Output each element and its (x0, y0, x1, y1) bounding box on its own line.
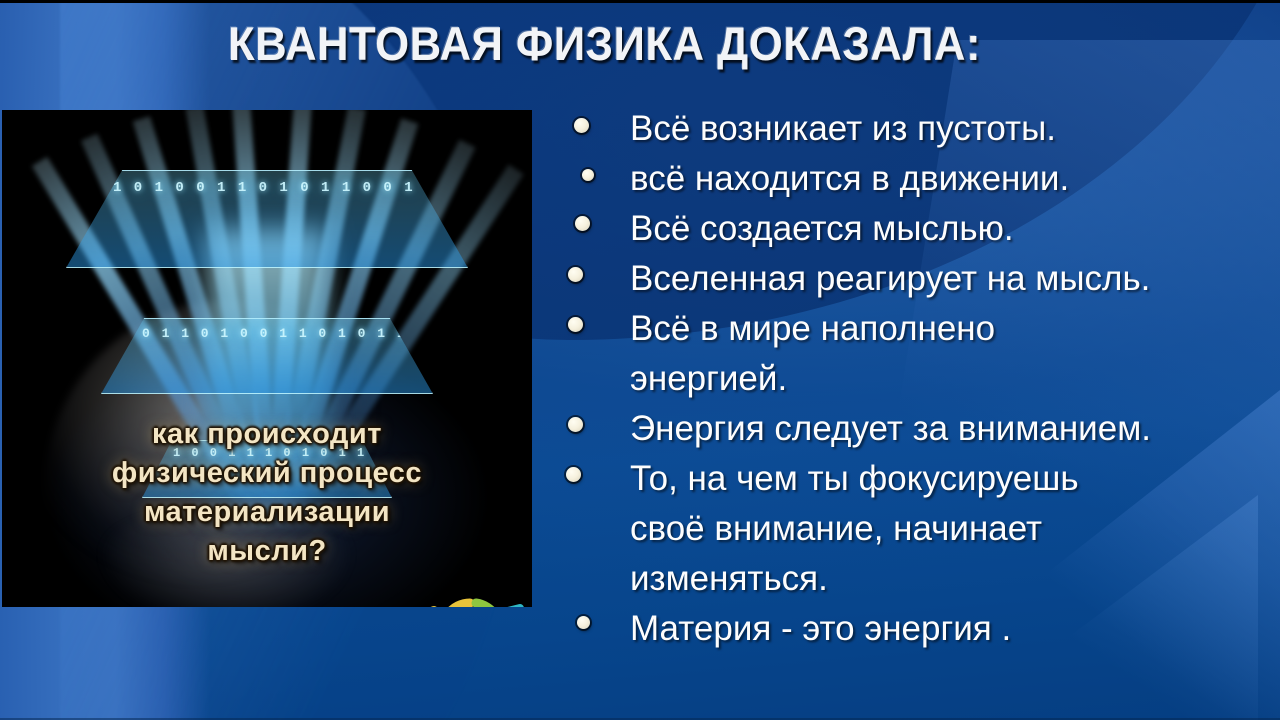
list-item: Материя - это энергия . (560, 604, 1276, 654)
list-item: Всё создается мыслью. (560, 204, 1276, 254)
list-item: Энергия следует за вниманием. (560, 404, 1276, 454)
rainbow-circle-logo-icon (420, 588, 526, 607)
list-item-text: Энергия следует за вниманием. (630, 404, 1276, 454)
binary-plane-top-bits: 1 0 1 0 0 1 1 0 1 0 1 1 0 0 1 (67, 171, 467, 267)
list-item-text: То, на чем ты фокусируешь своё внимание,… (630, 454, 1276, 604)
list-item: Всё возникает из пустоты. (560, 104, 1276, 154)
caption-line-4: мысли? (2, 532, 532, 571)
list-item-text: Всё создается мыслью. (630, 204, 1276, 254)
list-item: Всё в мире наполнено энергией. (560, 304, 1276, 404)
list-item-text: Вселенная реагирует на мысль. (630, 254, 1276, 304)
bullet-marker-icon (568, 317, 583, 332)
illustration-caption: как происходит физический процесс матери… (2, 415, 532, 570)
slide-root: КВАНТОВАЯ ФИЗИКА ДОКАЗАЛА: 1 0 1 0 0 1 1… (0, 0, 1280, 720)
binary-plane-middle-bits: 0 1 1 0 1 0 0 1 1 0 1 0 1 1 0 (102, 319, 432, 393)
bullet-marker-icon (574, 118, 589, 133)
binary-plane-middle: 0 1 1 0 1 0 0 1 1 0 1 0 1 1 0 (101, 318, 433, 394)
illustration-panel: 1 0 1 0 0 1 1 0 1 0 1 1 0 0 1 0 1 1 0 1 … (2, 110, 532, 607)
bullet-marker-icon (568, 417, 583, 432)
page-title: КВАНТОВАЯ ФИЗИКА ДОКАЗАЛА: (228, 14, 1065, 74)
bullet-marker-icon (577, 616, 590, 629)
bullet-marker-icon (575, 216, 590, 231)
caption-line-3: материализации (2, 493, 532, 532)
top-edge-bar (0, 0, 1280, 3)
list-item-text: Всё в мире наполнено энергией. (630, 304, 1276, 404)
list-item: Вселенная реагирует на мысль. (560, 254, 1276, 304)
list-item: всё находится в движении. (560, 154, 1276, 204)
bullet-marker-icon (582, 169, 594, 181)
list-item-text: Материя - это энергия . (630, 604, 1276, 654)
binary-plane-top: 1 0 1 0 0 1 1 0 1 0 1 1 0 0 1 (66, 170, 468, 268)
bullet-list: Всё возникает из пустоты. всё находится … (560, 104, 1276, 654)
caption-line-1: как происходит (2, 415, 532, 454)
list-item-text: всё находится в движении. (630, 154, 1276, 204)
bullet-marker-icon (566, 467, 581, 482)
list-item: То, на чем ты фокусируешь своё внимание,… (560, 454, 1276, 604)
bullet-marker-icon (568, 267, 583, 282)
caption-line-2: физический процесс (2, 454, 532, 493)
list-item-text: Всё возникает из пустоты. (630, 104, 1276, 154)
